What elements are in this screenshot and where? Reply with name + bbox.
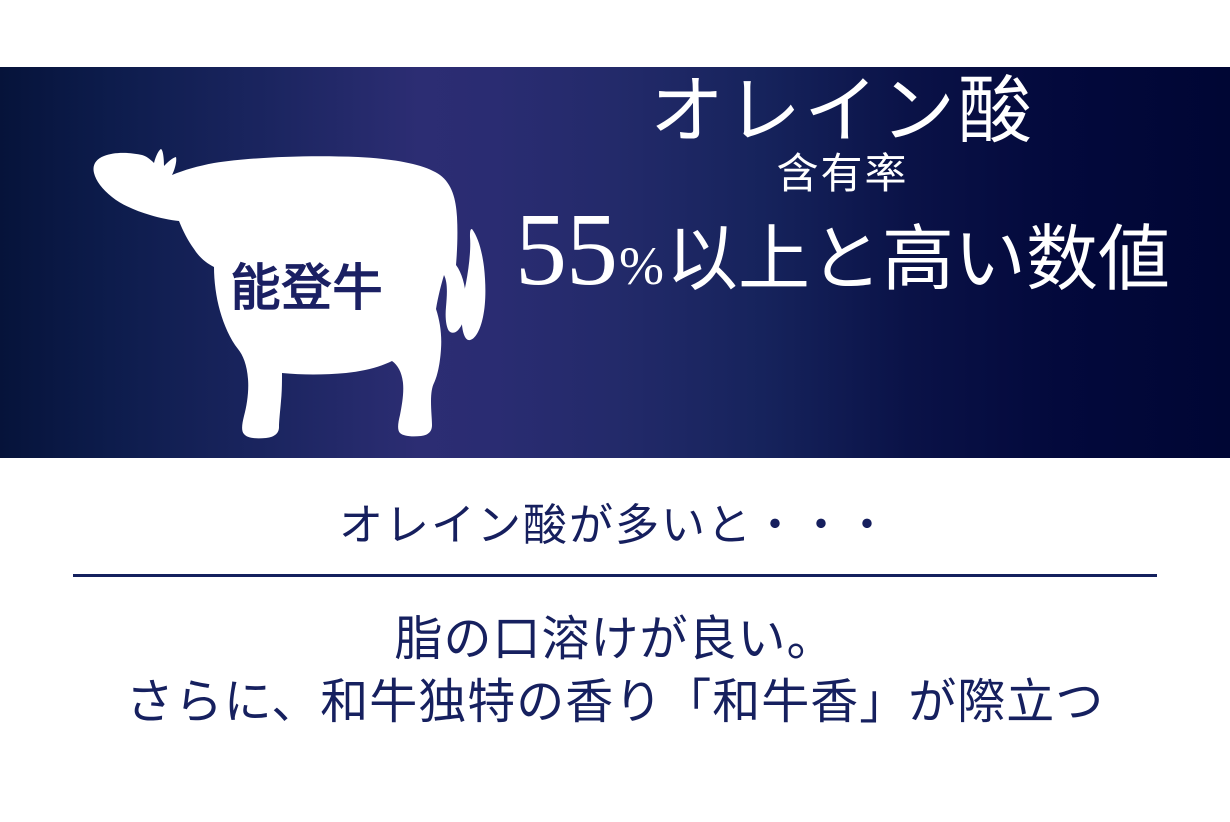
lower-body-text: 脂の口溶けが良い。 さらに、和牛独特の香り「和牛香」が際立つ — [0, 608, 1230, 735]
headline-value-suffix: 以上と高い数値 — [666, 224, 1170, 296]
headline-percent-symbol: % — [619, 239, 664, 293]
cow-brand-label: 能登牛 — [202, 263, 412, 313]
lower-section: オレイン酸が多いと・・・ 脂の口溶けが良い。 さらに、和牛独特の香り「和牛香」が… — [0, 458, 1230, 822]
body-line-2: さらに、和牛独特の香り「和牛香」が際立つ — [0, 671, 1230, 734]
hero-headline-block: オレイン酸 含有率 55 % 以上と高い数値 — [470, 75, 1215, 300]
lower-subheading: オレイン酸が多いと・・・ — [0, 504, 1230, 548]
hero-banner: 能登牛 オレイン酸 含有率 55 % 以上と高い数値 — [0, 67, 1230, 458]
horizontal-divider — [73, 574, 1157, 577]
headline-oleic-acid: オレイン酸 — [470, 75, 1215, 149]
headline-value-row: 55 % 以上と高い数値 — [470, 201, 1215, 300]
headline-value-number: 55 — [515, 201, 617, 300]
body-line-1: 脂の口溶けが良い。 — [0, 608, 1230, 671]
